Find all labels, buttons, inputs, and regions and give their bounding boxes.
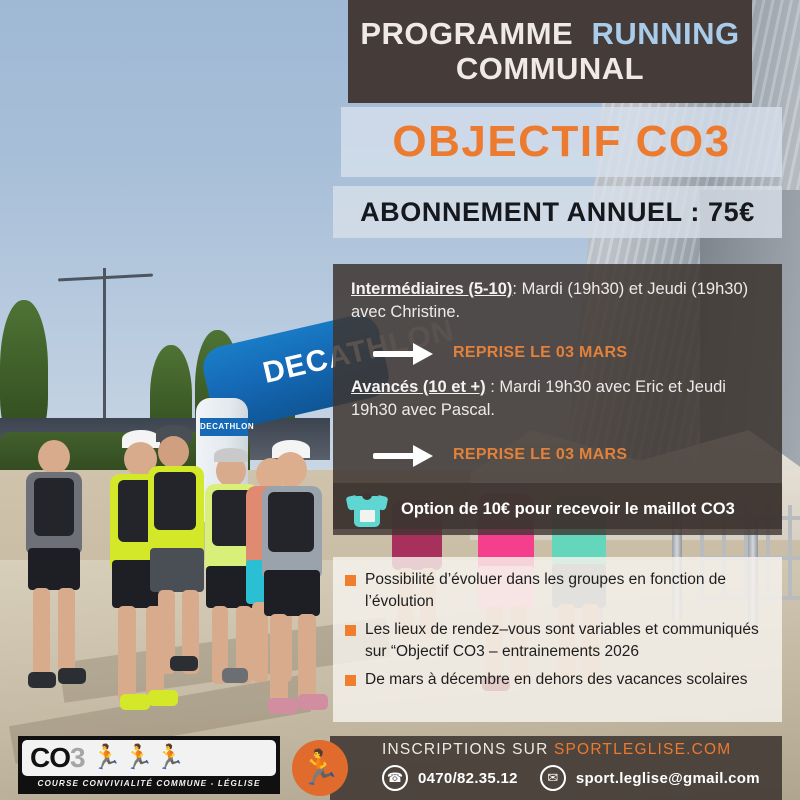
arch-band-text: DECATHLON: [200, 418, 248, 436]
note-text: Possibilité d’évoluer dans les groupes e…: [365, 569, 772, 613]
website-link[interactable]: SPORTLEGLISE.COM: [554, 741, 731, 758]
bullet-square-icon: [345, 575, 356, 586]
list-item: De mars à décembre en dehors des vacance…: [345, 669, 772, 691]
restart-text-intermediate: REPRISE LE 03 MARS: [453, 344, 627, 362]
restart-notice-intermediate: REPRISE LE 03 MARS: [373, 342, 627, 364]
logo-runner-icons: 🏃 🏃 🏃: [92, 746, 186, 770]
page-title: OBJECTIF CO3: [392, 117, 730, 167]
arrow-right-icon: [373, 444, 435, 466]
schedule-intermediate-label: Intermédiaires (5-10): [351, 280, 512, 298]
inscriptions-prefix: INSCRIPTIONS SUR: [382, 741, 554, 758]
envelope-icon: ✉: [540, 765, 566, 791]
logo-wordmark: CO3 🏃 🏃 🏃: [22, 740, 276, 776]
restart-text-advanced: REPRISE LE 03 MARS: [453, 446, 627, 464]
header-line-2: COMMUNAL: [456, 52, 644, 87]
running-person-badge-icon: 🏃: [292, 740, 348, 796]
schedule-advanced: Avancés (10 et +) : Mardi 19h30 avec Eri…: [351, 376, 768, 423]
header-word-programme: PROGRAMME: [360, 16, 573, 51]
restart-notice-advanced: REPRISE LE 03 MARS: [373, 444, 627, 466]
schedule-advanced-label: Avancés (10 et +): [351, 378, 486, 396]
co3-logo: CO3 🏃 🏃 🏃 COURSE CONVIVIALITÉ COMMUNE - …: [18, 736, 280, 794]
title-band: OBJECTIF CO3: [341, 107, 782, 177]
contact-row: ☎ 0470/82.35.12 ✉ sport.leglise@gmail.co…: [382, 765, 782, 791]
phone-icon: ☎: [382, 765, 408, 791]
header-band: PROGRAMME RUNNING COMMUNAL: [348, 0, 752, 103]
jersey-option-text: Option de 10€ pour recevoir le maillot C…: [401, 500, 735, 519]
inscriptions-line: INSCRIPTIONS SUR SPORTLEGLISE.COM: [382, 741, 782, 759]
schedule-intermediate: Intermédiaires (5-10): Mardi (19h30) et …: [351, 278, 768, 325]
header-word-running: RUNNING: [591, 16, 739, 51]
bullet-square-icon: [345, 625, 356, 636]
notes-panel: Possibilité d’évoluer dans les groupes e…: [333, 557, 782, 722]
list-item: Les lieux de rendez–vous sont variables …: [345, 619, 772, 663]
footer-contact-bar: INSCRIPTIONS SUR SPORTLEGLISE.COM ☎ 0470…: [330, 736, 782, 800]
subscription-price: ABONNEMENT ANNUEL : 75€: [360, 197, 755, 228]
tshirt-icon: [347, 491, 387, 527]
subscription-band: ABONNEMENT ANNUEL : 75€: [333, 186, 782, 238]
note-text: Les lieux de rendez–vous sont variables …: [365, 619, 772, 663]
header-line-1: PROGRAMME RUNNING: [360, 17, 739, 52]
running-person-icon: 🏃: [92, 746, 122, 770]
poster-root: DECATHLON DECATHLON: [0, 0, 800, 800]
logo-text: CO3: [30, 744, 85, 772]
arrow-right-icon: [373, 342, 435, 364]
list-item: Possibilité d’évoluer dans les groupes e…: [345, 569, 772, 613]
phone-number[interactable]: 0470/82.35.12: [418, 770, 518, 787]
email-address[interactable]: sport.leglise@gmail.com: [576, 770, 760, 787]
jersey-option-row: Option de 10€ pour recevoir le maillot C…: [333, 483, 782, 535]
note-text: De mars à décembre en dehors des vacance…: [365, 669, 748, 691]
logo-tagline: COURSE CONVIVIALITÉ COMMUNE - LÉGLISE: [22, 779, 276, 788]
bullet-square-icon: [345, 675, 356, 686]
running-person-icon: 🏃: [123, 746, 153, 770]
running-person-icon: 🏃: [155, 746, 185, 770]
arch-brand-band: DECATHLON: [200, 418, 248, 436]
